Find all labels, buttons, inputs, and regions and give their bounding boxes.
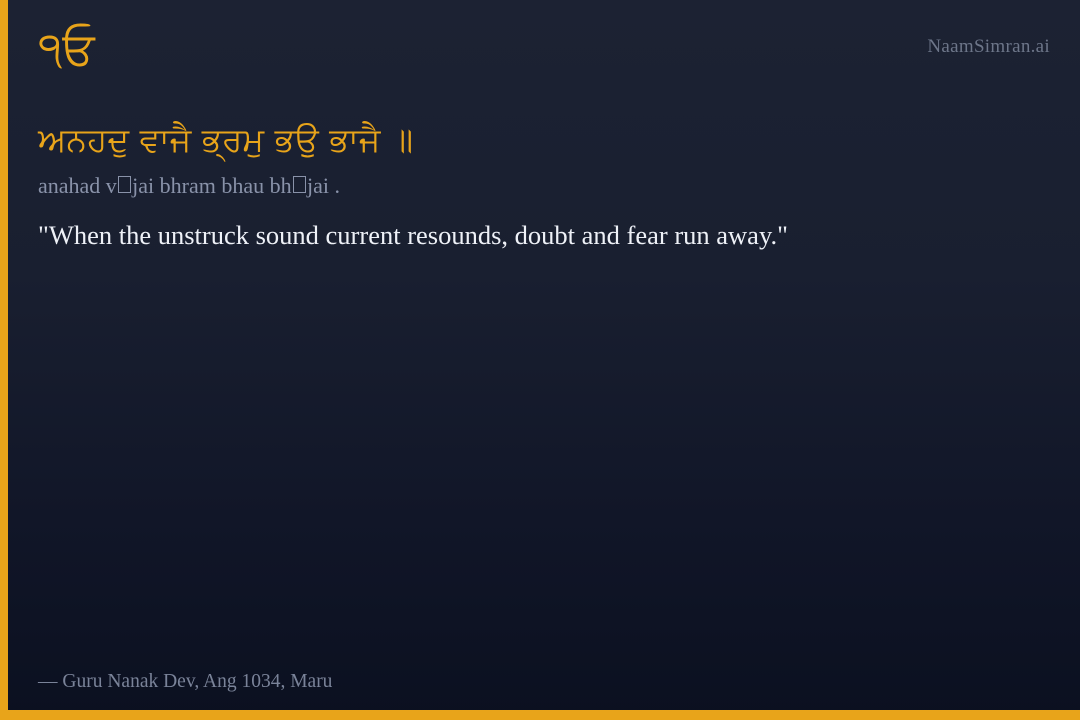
missing-glyph-box (118, 176, 132, 193)
translation-text: "When the unstruck sound current resound… (38, 214, 838, 257)
accent-bar-left (0, 0, 8, 720)
attribution-text: — Guru Nanak Dev, Ang 1034, Maru (38, 671, 332, 693)
transliteration-segment-2: jai bhram bhau bh (132, 173, 291, 198)
transliteration-segment-3: jai . (307, 173, 340, 198)
missing-glyph-box (293, 176, 307, 193)
transliteration-segment-1: anahad v (38, 173, 117, 198)
accent-bar-bottom (0, 710, 1080, 720)
ik-onkar-icon: ੧ਓ (38, 26, 95, 71)
verse-block: ਅਨਹਦੁ ਵਾਜੈ ਭ੍ਰਮੁ ਭਉੁ ਭਾਜੈ ॥ anahad vjai … (38, 118, 1038, 257)
transliteration-text: anahad vjai bhram bhau bhjai . (38, 172, 1038, 201)
brand-wordmark: NaamSimran.ai (927, 36, 1050, 58)
quote-card: NaamSimran.ai ੧ਓ ਅਨਹਦੁ ਵਾਜੈ ਭ੍ਰਮੁ ਭਉੁ ਭਾ… (0, 0, 1080, 720)
gurmukhi-verse-text: ਅਨਹਦੁ ਵਾਜੈ ਭ੍ਰਮੁ ਭਉੁ ਭਾਜੈ ॥ (38, 118, 1038, 162)
